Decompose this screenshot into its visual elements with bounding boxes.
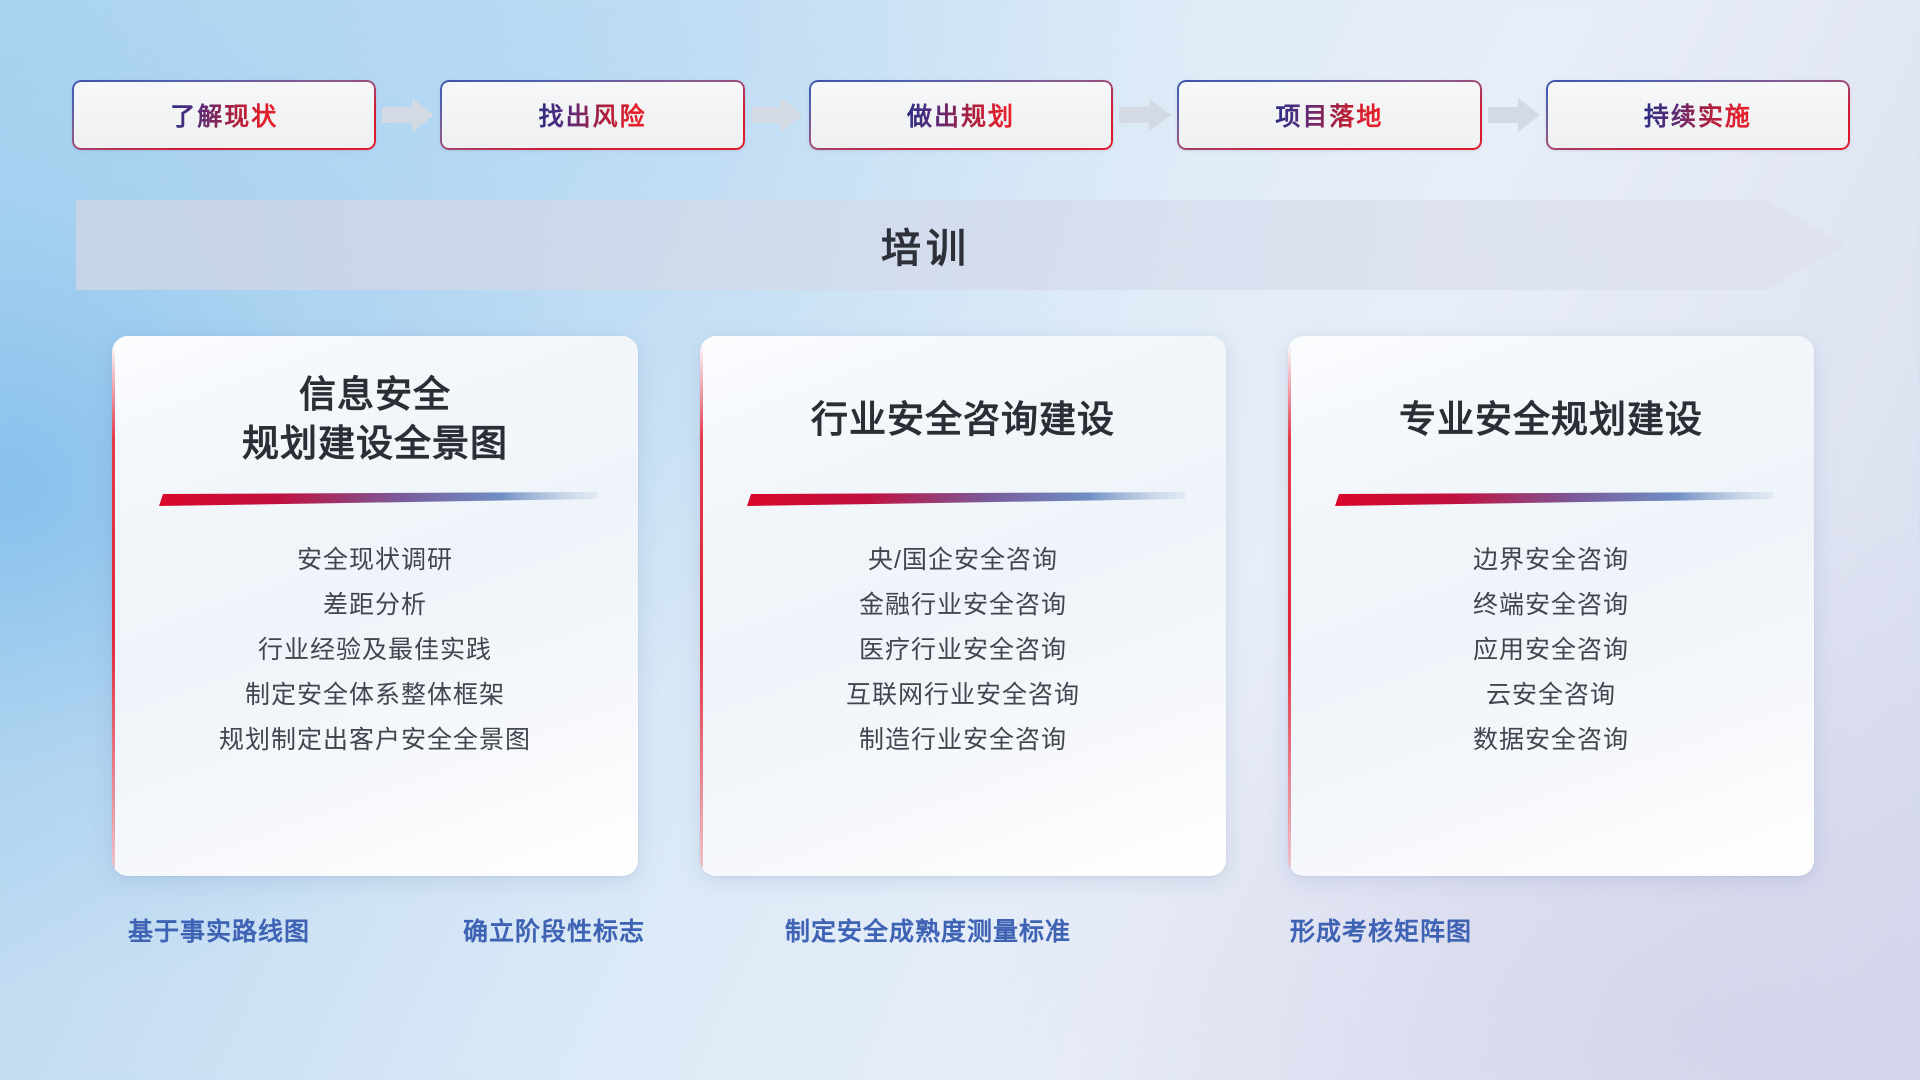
bottom-label-2: 制定安全成熟度测量标准: [785, 912, 1071, 948]
list-item: 互联网行业安全咨询: [726, 673, 1200, 718]
card-title-line: 信息安全: [299, 374, 451, 415]
card-divider: [1329, 492, 1773, 508]
bottom-label-3: 形成考核矩阵图: [1290, 912, 1472, 948]
list-item: 终端安全咨询: [1314, 583, 1788, 628]
list-item: 数据安全咨询: [1314, 718, 1788, 763]
card-title-line: 规划建设全景图: [242, 423, 508, 464]
step-label: 了解现状: [170, 97, 278, 133]
training-band: 培训: [76, 200, 1846, 290]
card-divider: [153, 492, 597, 508]
bottom-label-row: 基于事实路线图 确立阶段性标志 制定安全成熟度测量标准 形成考核矩阵图: [0, 912, 1920, 964]
step-label: 持续实施: [1644, 97, 1752, 133]
step-label: 项目落地: [1275, 97, 1383, 133]
step-box-2[interactable]: 做出规划: [809, 80, 1113, 150]
list-item: 差距分析: [138, 583, 612, 628]
bottom-label-1: 确立阶段性标志: [463, 912, 645, 948]
step-label: 找出风险: [539, 97, 647, 133]
list-item: 规划制定出客户安全全景图: [138, 718, 612, 763]
arrow-right-block-icon: [1119, 98, 1171, 132]
list-item: 应用安全咨询: [1314, 628, 1788, 673]
band-title: 培训: [76, 200, 1776, 290]
step-box-0[interactable]: 了解现状: [72, 80, 376, 150]
list-item: 行业经验及最佳实践: [138, 628, 612, 673]
card-title: 专业安全规划建设: [1314, 370, 1788, 470]
card-divider: [741, 492, 1185, 508]
bottom-label-0: 基于事实路线图: [128, 912, 310, 948]
card-item-list: 央/国企安全咨询 金融行业安全咨询 医疗行业安全咨询 互联网行业安全咨询 制造行…: [726, 538, 1200, 763]
card-item-list: 边界安全咨询 终端安全咨询 应用安全咨询 云安全咨询 数据安全咨询: [1314, 538, 1788, 763]
step-box-4[interactable]: 持续实施: [1546, 80, 1850, 150]
step-flow: 了解现状 找出风险 做出规划 项目落地 持续实施: [72, 80, 1850, 150]
arrow-right-block-icon: [751, 98, 803, 132]
list-item: 边界安全咨询: [1314, 538, 1788, 583]
card-professional-security-planning[interactable]: 专业安全规划建设 边界安全咨询 终端安全咨询 应用安全咨询: [1288, 336, 1814, 876]
step-label: 做出规划: [907, 97, 1015, 133]
list-item: 安全现状调研: [138, 538, 612, 583]
card-item-list: 安全现状调研 差距分析 行业经验及最佳实践 制定安全体系整体框架 规划制定出客户…: [138, 538, 612, 763]
list-item: 云安全咨询: [1314, 673, 1788, 718]
arrow-right-block-icon: [382, 98, 434, 132]
card-title: 信息安全 规划建设全景图: [138, 370, 612, 470]
card-title-line: 专业安全规划建设: [1399, 396, 1703, 445]
list-item: 医疗行业安全咨询: [726, 628, 1200, 673]
list-item: 制造行业安全咨询: [726, 718, 1200, 763]
card-industry-security-consulting[interactable]: 行业安全咨询建设 央/国企安全咨询 金融行业安全咨询 医疗行业安全咨: [700, 336, 1226, 876]
arrow-right-block-icon: [1488, 98, 1540, 132]
list-item: 制定安全体系整体框架: [138, 673, 612, 718]
card-info-security-panorama[interactable]: 信息安全 规划建设全景图 安全现状调研 差距分析: [112, 336, 638, 876]
card-title: 行业安全咨询建设: [726, 370, 1200, 470]
card-row: 信息安全 规划建设全景图 安全现状调研 差距分析: [112, 336, 1920, 876]
list-item: 金融行业安全咨询: [726, 583, 1200, 628]
card-title-line: 行业安全咨询建设: [811, 396, 1115, 445]
list-item: 央/国企安全咨询: [726, 538, 1200, 583]
step-box-1[interactable]: 找出风险: [440, 80, 744, 150]
step-box-3[interactable]: 项目落地: [1177, 80, 1481, 150]
